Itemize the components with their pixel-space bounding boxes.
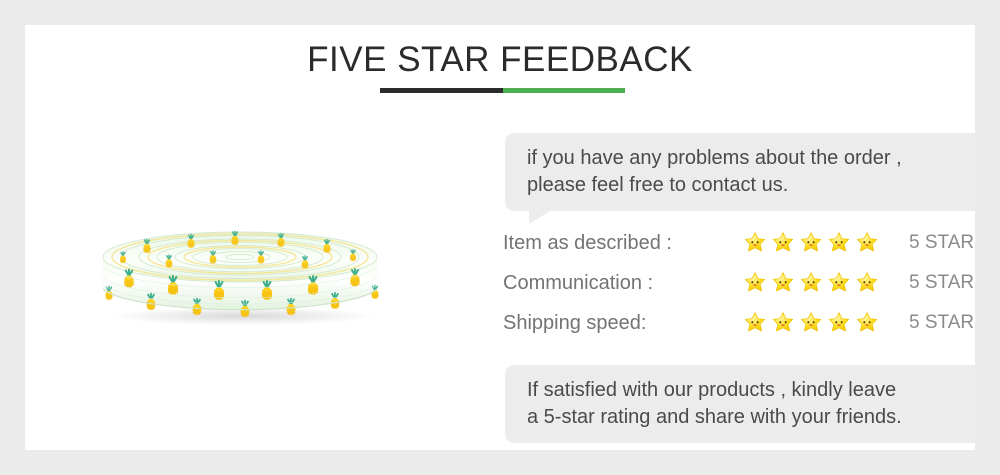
star-icon[interactable] (827, 271, 851, 295)
star-icon[interactable] (771, 311, 795, 335)
rating-value: 5 STAR (909, 312, 974, 334)
star-icon[interactable] (799, 271, 823, 295)
star-icon[interactable] (743, 271, 767, 295)
feedback-panel: if you have any problems about the order… (480, 25, 975, 450)
rating-value: 5 STAR (909, 232, 974, 254)
satisfaction-message-line-2: a 5-star rating and share with your frie… (527, 404, 975, 431)
bubble-tail-icon (529, 208, 555, 224)
star-icon[interactable] (799, 311, 823, 335)
rating-label: Item as described : (503, 232, 743, 255)
star-icon[interactable] (799, 231, 823, 255)
rating-row: Shipping speed: 5 STAR (503, 303, 975, 343)
rating-list: Item as described : 5 STAR Communication… (503, 223, 975, 343)
image-frame: FIVE STAR FEEDBACK (0, 0, 1000, 475)
satisfaction-message-line-1: If satisfied with our products , kindly … (527, 377, 975, 404)
star-icon[interactable] (827, 231, 851, 255)
contact-message-line-1: if you have any problems about the order… (527, 145, 975, 172)
rating-row: Communication : 5 STAR (503, 263, 975, 303)
ribbon-coil-illustration (95, 215, 385, 325)
content-canvas: FIVE STAR FEEDBACK (25, 25, 975, 450)
rating-row: Item as described : 5 STAR (503, 223, 975, 263)
star-icon[interactable] (771, 231, 795, 255)
star-icon[interactable] (771, 271, 795, 295)
star-icon[interactable] (855, 311, 879, 335)
rating-label: Communication : (503, 272, 743, 295)
contact-message-line-2: please feel free to contact us. (527, 172, 975, 199)
rating-value: 5 STAR (909, 272, 974, 294)
contact-message-bubble: if you have any problems about the order… (505, 133, 975, 211)
rating-stars[interactable] (743, 271, 893, 295)
rating-label: Shipping speed: (503, 312, 743, 335)
product-image (95, 215, 385, 325)
star-icon[interactable] (743, 231, 767, 255)
satisfaction-message-bubble: If satisfied with our products , kindly … (505, 365, 975, 443)
star-icon[interactable] (855, 271, 879, 295)
star-icon[interactable] (855, 231, 879, 255)
star-icon[interactable] (827, 311, 851, 335)
rating-stars[interactable] (743, 311, 893, 335)
rating-stars[interactable] (743, 231, 893, 255)
star-icon[interactable] (743, 311, 767, 335)
